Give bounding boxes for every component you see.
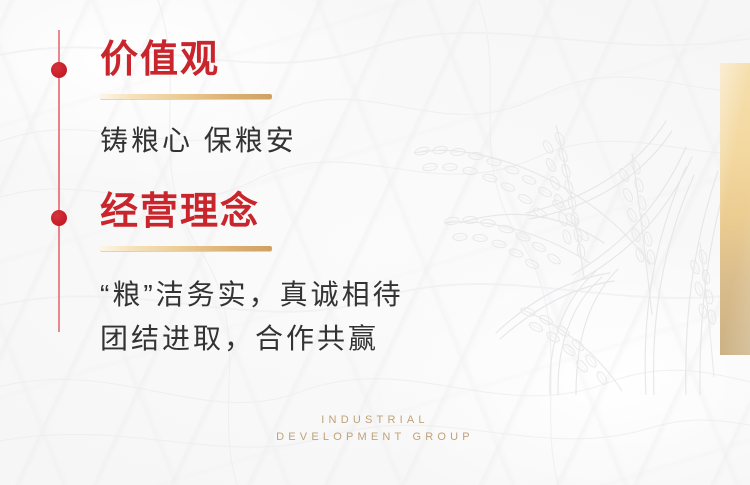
accent-dot-values <box>51 62 67 78</box>
section-philosophy: 经营理念 “粮”洁务实，真诚相待 团结进取，合作共赢 <box>100 190 404 361</box>
section-values-heading: 价值观 <box>100 38 297 82</box>
slide-canvas: 价值观 铸粮心 保粮安 经营理念 “粮”洁务实，真诚相待 团结进取，合作共赢 I… <box>0 0 750 485</box>
right-edge-gold-bar <box>720 63 750 355</box>
section-philosophy-line-2: 团结进取，合作共赢 <box>100 317 404 361</box>
accent-dot-philosophy <box>51 210 67 226</box>
gold-bar-sheen <box>720 63 750 355</box>
gold-divider-rule-values <box>100 94 272 99</box>
section-philosophy-heading: 经营理念 <box>100 190 404 234</box>
section-philosophy-line-1: “粮”洁务实，真诚相待 <box>100 273 404 317</box>
section-values-line-1: 铸粮心 保粮安 <box>100 119 297 163</box>
section-values: 价值观 铸粮心 保粮安 <box>100 38 297 163</box>
gold-divider-rule-philosophy <box>100 246 272 251</box>
